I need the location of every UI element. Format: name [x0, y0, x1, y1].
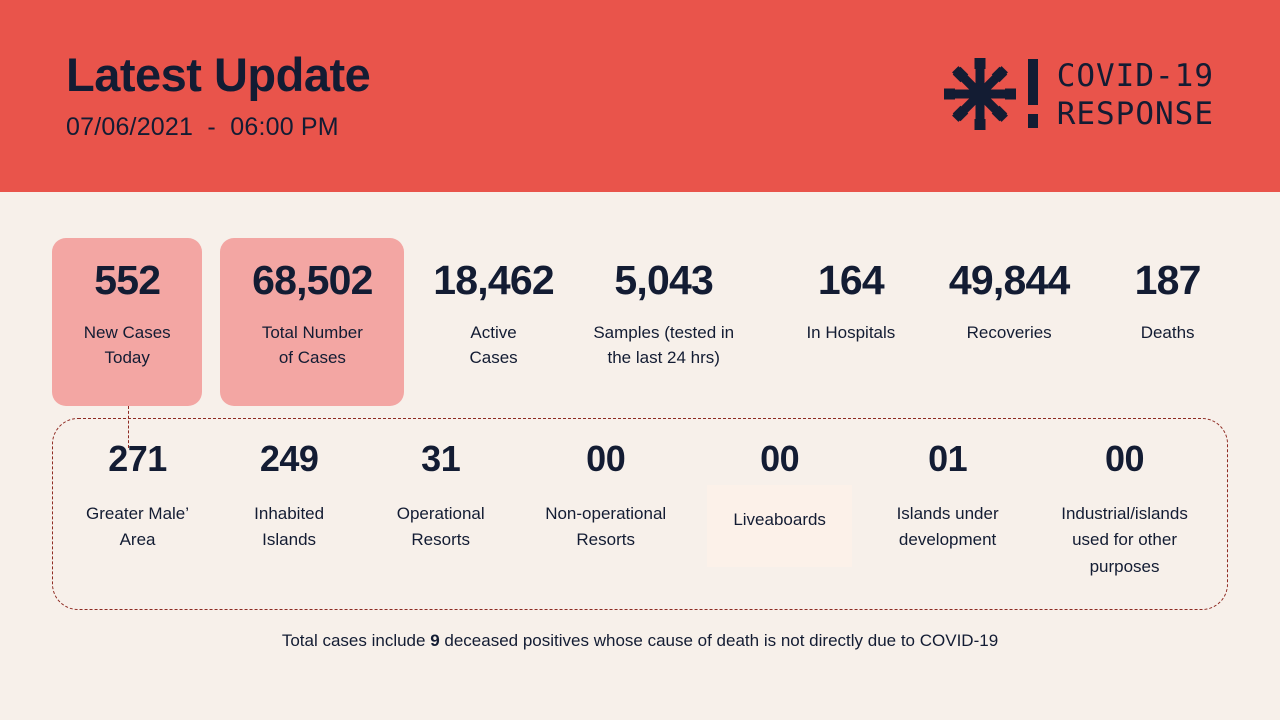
header-text-group: Latest Update 07/06/2021 - 06:00 PM — [66, 50, 370, 142]
breakdown-item-islands-under-development: 01 Islands under development — [863, 441, 1032, 554]
stat-card-samples-tested: 5,043 Samples (tested in the last 24 hrs… — [567, 238, 761, 398]
logo-line-2: RESPONSE — [1057, 96, 1214, 134]
logo-wordmark: COVID-19 RESPONSE — [1057, 58, 1214, 134]
page-title: Latest Update — [66, 50, 370, 99]
breakdown-label: Industrial/islands used for other purpos… — [1061, 501, 1188, 580]
top-statistics-row: 552 New Cases Today 68,502 Total Number … — [52, 192, 1228, 406]
stat-value: 49,844 — [949, 260, 1070, 301]
stat-label: Recoveries — [967, 321, 1052, 346]
stat-value: 68,502 — [252, 260, 373, 301]
footer-note-prefix: Total cases include — [282, 631, 430, 650]
breakdown-label: Operational Resorts — [397, 501, 485, 554]
stat-value: 187 — [1135, 260, 1201, 301]
stat-value: 5,043 — [614, 260, 713, 301]
breakdown-value: 00 — [586, 441, 625, 477]
breakdown-value: 01 — [928, 441, 967, 477]
dashboard-body: 552 New Cases Today 68,502 Total Number … — [0, 192, 1280, 720]
breakdown-item-operational-resorts: 31 Operational Resorts — [366, 441, 515, 554]
breakdown-label: Inhabited Islands — [254, 501, 324, 554]
footer-note: Total cases include 9 deceased positives… — [52, 630, 1228, 652]
stat-label: In Hospitals — [806, 321, 895, 346]
stat-value: 164 — [818, 260, 884, 301]
breakdown-value: 249 — [260, 441, 319, 477]
breakdown-label: Islands under development — [897, 501, 999, 554]
stat-value: 18,462 — [433, 260, 554, 301]
footer-note-number: 9 — [430, 631, 439, 650]
breakdown-value: 31 — [421, 441, 460, 477]
breakdown-item-liveaboards: 00 Liveaboards — [696, 441, 863, 567]
stat-card-in-hospitals: 164 In Hospitals — [777, 238, 925, 374]
update-timestamp: 07/06/2021 - 06:00 PM — [66, 113, 370, 142]
stat-card-total-cases: 68,502 Total Number of Cases — [220, 238, 404, 406]
breakdown-item-inhabited-islands: 249 Inhabited Islands — [212, 441, 366, 554]
breakdown-value: 00 — [760, 441, 799, 477]
breakdown-label: Liveaboards — [707, 485, 852, 567]
footer-note-suffix: deceased positives whose cause of death … — [440, 631, 998, 650]
stat-label: Deaths — [1141, 321, 1195, 346]
logo-line-1: COVID-19 — [1057, 58, 1214, 96]
stat-value: 552 — [94, 260, 160, 301]
page-header: Latest Update 07/06/2021 - 06:00 PM — [0, 0, 1280, 192]
new-cases-breakdown-box: 271 Greater Male’ Area 249 Inhabited Isl… — [52, 418, 1228, 610]
stat-card-recoveries: 49,844 Recoveries — [925, 238, 1093, 374]
stat-card-deaths: 187 Deaths — [1107, 238, 1228, 374]
breakdown-item-industrial-islands: 00 Industrial/islands used for other pur… — [1032, 441, 1217, 580]
breakdown-item-non-operational-resorts: 00 Non-operational Resorts — [515, 441, 696, 554]
breakdown-item-greater-male-area: 271 Greater Male’ Area — [63, 441, 212, 554]
breakdown-label: Greater Male’ Area — [86, 501, 189, 554]
stat-label: Active Cases — [469, 321, 517, 370]
stat-label: New Cases Today — [84, 321, 171, 370]
breakdown-value: 271 — [108, 441, 167, 477]
stat-card-new-cases-today: 552 New Cases Today — [52, 238, 202, 406]
stat-label: Total Number of Cases — [262, 321, 363, 370]
covid-response-logo: COVID-19 RESPONSE — [943, 57, 1214, 136]
breakdown-value: 00 — [1105, 441, 1144, 477]
covid-starburst-icon — [943, 57, 1041, 136]
stat-label: Samples (tested in the last 24 hrs) — [593, 321, 734, 370]
stat-card-active-cases: 18,462 Active Cases — [420, 238, 566, 398]
breakdown-label: Non-operational Resorts — [545, 501, 666, 554]
